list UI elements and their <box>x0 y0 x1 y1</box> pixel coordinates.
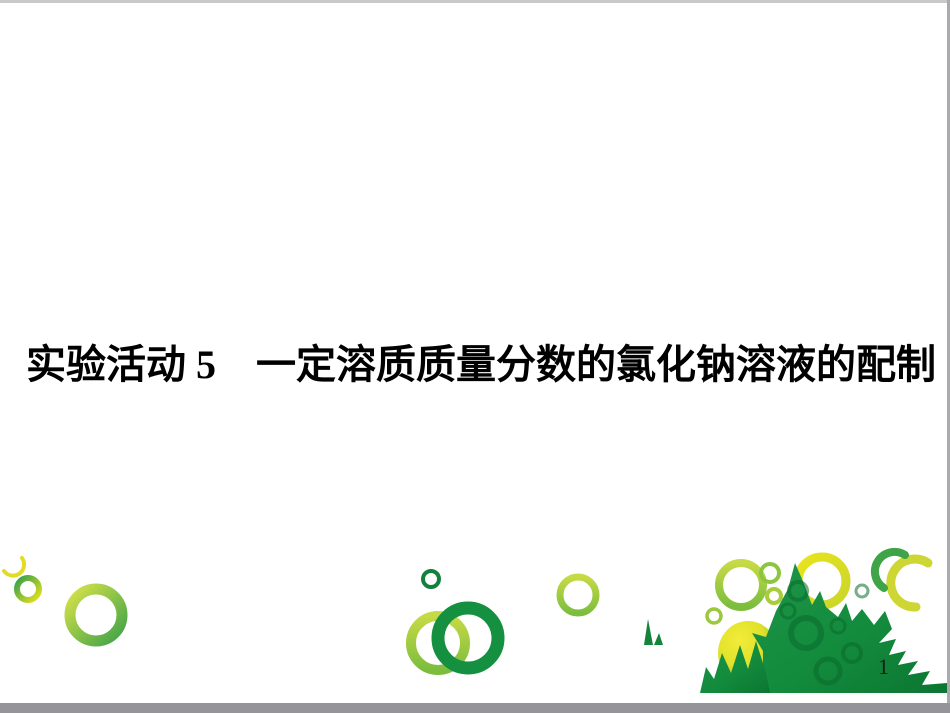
maple-leaf-left-lobe <box>700 641 770 693</box>
bubble-ring-leaf-upper <box>719 563 763 607</box>
bubble-ring-small-left <box>17 578 39 600</box>
bubble-ring-mid-yellow <box>411 616 465 670</box>
bubble-ring-tiny-left <box>4 558 24 576</box>
ring-yellow-behind-leaf-right <box>891 559 928 607</box>
presentation-slide: 实验活动 5 一定溶质质量分数的氯化钠溶液的配制 1 <box>0 0 950 713</box>
bubble-ring-leaf-tiny-a <box>761 564 779 582</box>
slide-title: 实验活动 5 一定溶质质量分数的氯化钠溶液的配制 <box>26 336 931 394</box>
page-number: 1 <box>878 654 889 680</box>
bubble-ring-leaf-tiny-b <box>767 589 781 603</box>
decoration-svg <box>0 533 947 693</box>
leaf-spike-small <box>644 619 663 645</box>
maple-leaf-shape <box>752 563 947 693</box>
maple-leaf-bubbles-decoration <box>0 533 947 693</box>
bubble-ring-large-left <box>70 589 122 641</box>
bubble-ring-mid-small <box>423 571 439 587</box>
ring-yellow-behind-leaf-left <box>798 557 846 605</box>
slide-canvas: 实验活动 5 一定溶质质量分数的氯化钠溶液的配制 1 <box>0 3 947 703</box>
yellow-blob <box>718 621 778 685</box>
bubble-ring-leaf-tiny-c <box>707 609 721 623</box>
bubble-ring-center-right <box>560 577 596 613</box>
leaf-inner-rings <box>781 582 868 683</box>
ring-green-behind-leaf-right <box>875 552 905 588</box>
bubble-ring-mid-green <box>438 608 498 668</box>
slide-frame-bottom-edge <box>0 703 950 713</box>
